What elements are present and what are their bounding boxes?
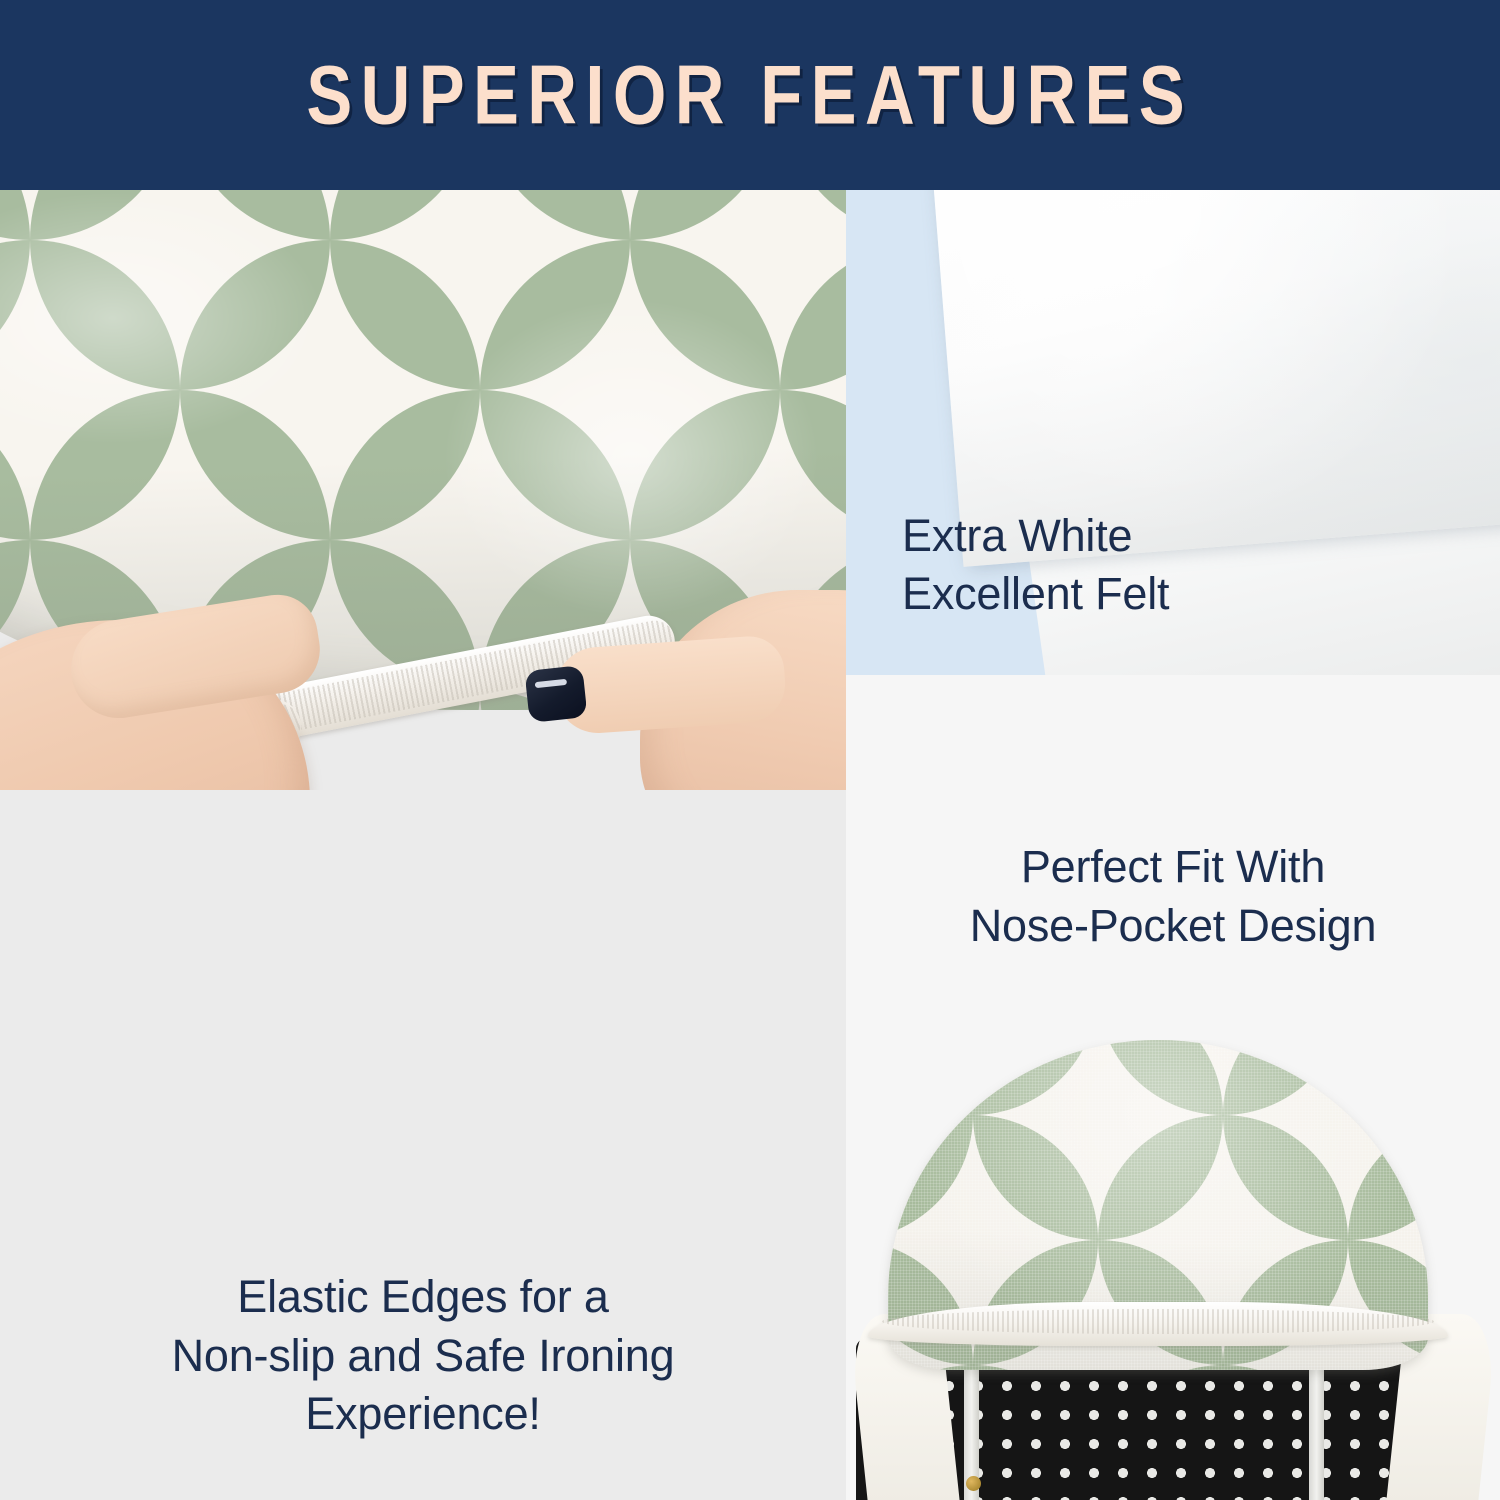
elastic-edges-photo bbox=[0, 190, 846, 790]
right-hand-finger bbox=[552, 634, 787, 736]
header-banner: SUPERIOR FEATURES bbox=[0, 0, 1500, 190]
board-screw bbox=[966, 1476, 981, 1491]
feature-panel-elastic-edges: Elastic Edges for a Non-slip and Safe Ir… bbox=[0, 190, 846, 1500]
nose-pocket-caption: Perfect Fit With Nose-Pocket Design bbox=[846, 838, 1500, 955]
elastic-edges-caption: Elastic Edges for a Non-slip and Safe Ir… bbox=[0, 1268, 846, 1444]
felt-caption: Extra White Excellent Felt bbox=[902, 507, 1169, 622]
nose-pocket-photo bbox=[846, 1040, 1500, 1500]
right-hand-nail bbox=[524, 665, 587, 723]
caption-line-1: Perfect Fit With bbox=[846, 838, 1500, 897]
caption-line-2: Nose-Pocket Design bbox=[846, 897, 1500, 956]
cover-elastic-hem bbox=[868, 1302, 1448, 1346]
caption-line-3: Experience! bbox=[0, 1385, 846, 1444]
page-title: SUPERIOR FEATURES bbox=[307, 53, 1194, 137]
caption-line-1: Extra White bbox=[902, 507, 1169, 565]
caption-line-2: Excellent Felt bbox=[902, 565, 1169, 623]
caption-line-1: Elastic Edges for a bbox=[0, 1268, 846, 1327]
caption-line-2: Non-slip and Safe Ironing bbox=[0, 1327, 846, 1386]
right-feature-column: Extra White Excellent Felt Perfect Fit W… bbox=[846, 190, 1500, 1500]
feature-panel-felt: Extra White Excellent Felt bbox=[846, 190, 1500, 675]
